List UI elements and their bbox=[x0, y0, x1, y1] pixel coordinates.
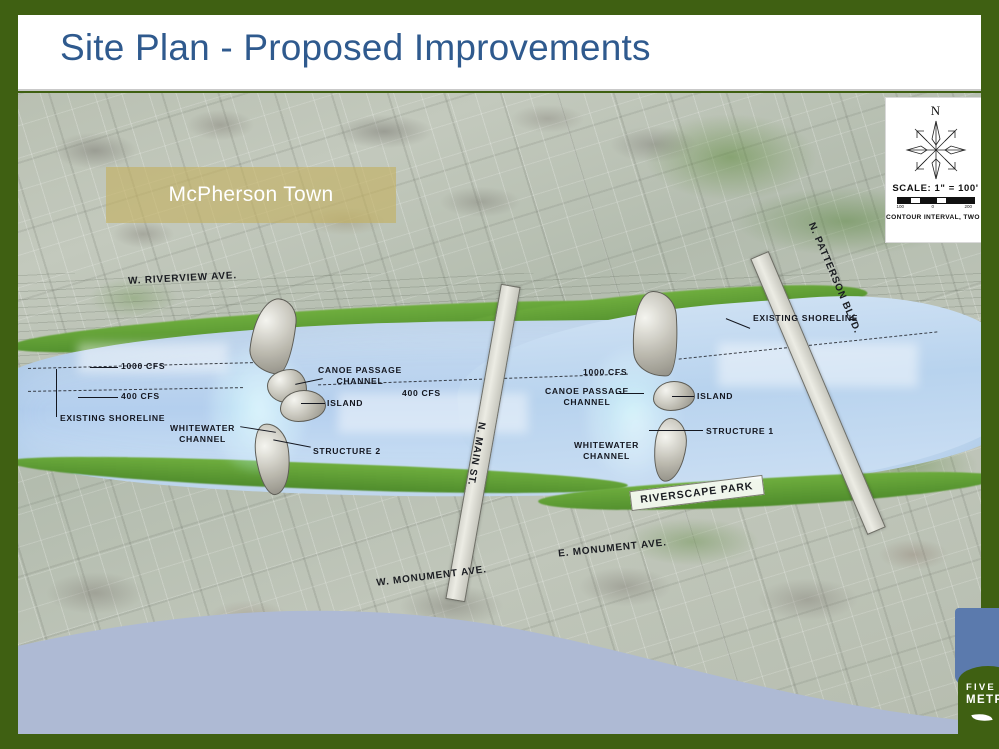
scale-tick-end: 200 bbox=[965, 204, 973, 209]
callout-flow-1000-cfs-left: 1000 CFS bbox=[121, 361, 165, 372]
site-plan-map[interactable]: W. RIVERVIEW AVE. W. MONUMENT AVE. E. MO… bbox=[18, 93, 981, 734]
leader-island-right bbox=[672, 396, 694, 397]
leader-1000-cfs-left bbox=[90, 367, 118, 368]
map-legend-box: N SCALE: 1" = 100' bbox=[885, 97, 981, 243]
logo-metroparks[interactable]: FIVE R METRO bbox=[958, 666, 999, 749]
callout-structure-1: STRUCTURE 1 bbox=[706, 426, 774, 437]
scale-bar bbox=[897, 197, 975, 204]
leader-existing-shoreline-left bbox=[56, 369, 57, 417]
callout-flow-400-cfs-mid: 400 CFS bbox=[402, 388, 441, 399]
logo-line-2: METRO bbox=[966, 694, 999, 706]
leader-island-left bbox=[301, 403, 325, 404]
scale-tick-start: 100 bbox=[897, 204, 905, 209]
callout-structure-2: STRUCTURE 2 bbox=[313, 446, 381, 457]
callout-canoe-passage-channel-right: CANOE PASSAGE CHANNEL bbox=[545, 386, 629, 407]
callout-existing-shoreline-right: EXISTING SHORELINE bbox=[753, 313, 858, 324]
callout-whitewater-channel-right: WHITEWATER CHANNEL bbox=[574, 440, 639, 461]
leader-400-cfs-left bbox=[78, 397, 118, 398]
scale-tick-mid: 0 bbox=[932, 204, 935, 209]
callout-canoe-passage-channel-left: CANOE PASSAGE CHANNEL bbox=[318, 365, 402, 386]
callout-flow-400-cfs-left: 400 CFS bbox=[121, 391, 160, 402]
leaf-icon bbox=[971, 711, 992, 724]
compass-north-letter: N bbox=[886, 103, 981, 119]
logo-line-1: FIVE R bbox=[966, 682, 999, 693]
callout-island-left: ISLAND bbox=[327, 398, 363, 409]
area-label-mcpherson-town: McPherson Town bbox=[106, 167, 396, 223]
area-label-text: McPherson Town bbox=[169, 183, 334, 207]
slide-canvas: Site Plan - Proposed Improvements bbox=[0, 0, 999, 749]
compass-rose-icon bbox=[901, 119, 971, 181]
callout-island-right: ISLAND bbox=[697, 391, 733, 402]
scale-text: SCALE: 1" = 100' bbox=[886, 183, 981, 194]
leader-canoe-right bbox=[616, 393, 644, 394]
scale-bar-ticks: 100 0 200 bbox=[897, 204, 975, 213]
callout-existing-shoreline-left: EXISTING SHORELINE bbox=[60, 413, 165, 424]
contour-interval-note: CONTOUR INTERVAL, TWO FEET bbox=[886, 214, 981, 221]
leader-structure-1 bbox=[649, 430, 703, 431]
callout-flow-1000-cfs-right: 1000 CFS bbox=[583, 367, 627, 378]
title-band: Site Plan - Proposed Improvements bbox=[18, 15, 981, 91]
page-title: Site Plan - Proposed Improvements bbox=[60, 27, 651, 69]
callout-whitewater-channel-left: WHITEWATER CHANNEL bbox=[170, 423, 235, 444]
